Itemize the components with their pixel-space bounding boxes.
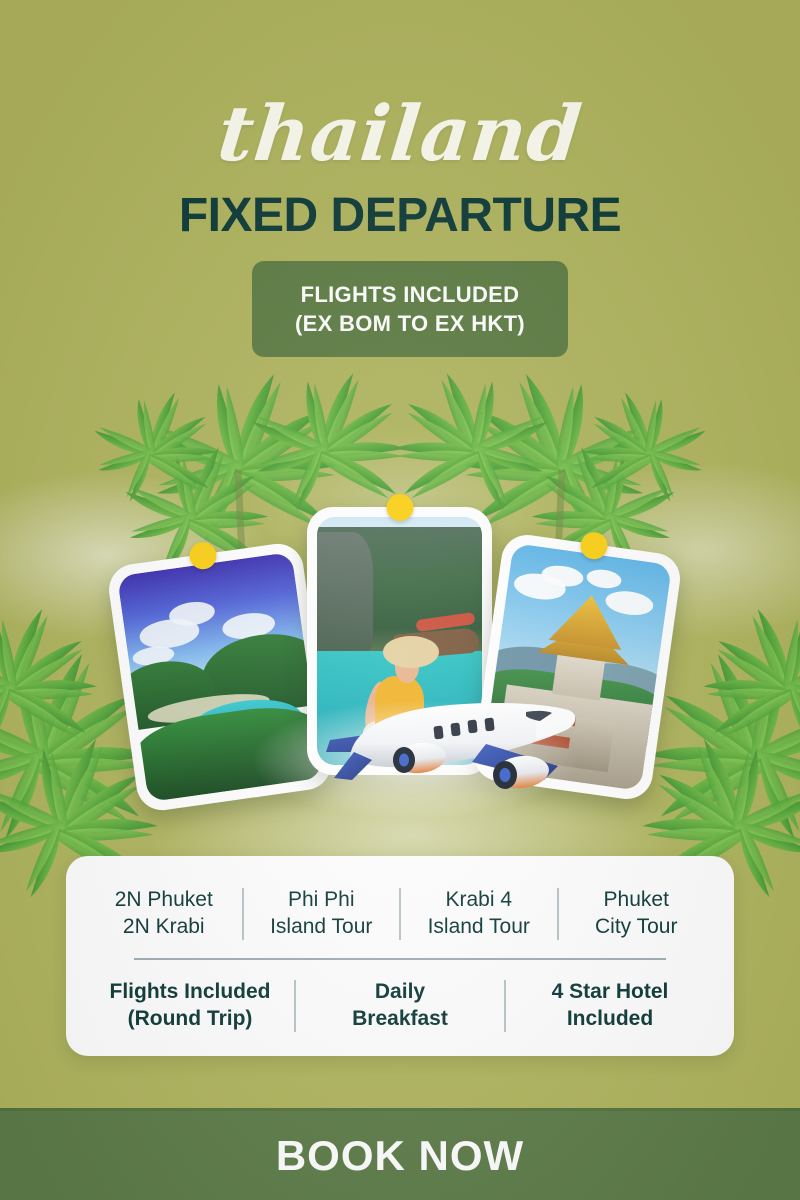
poster: thailand FIXED DEPARTURE FLIGHTS INCLUDE… [0, 0, 800, 1200]
vignette-overlay [0, 0, 800, 1200]
